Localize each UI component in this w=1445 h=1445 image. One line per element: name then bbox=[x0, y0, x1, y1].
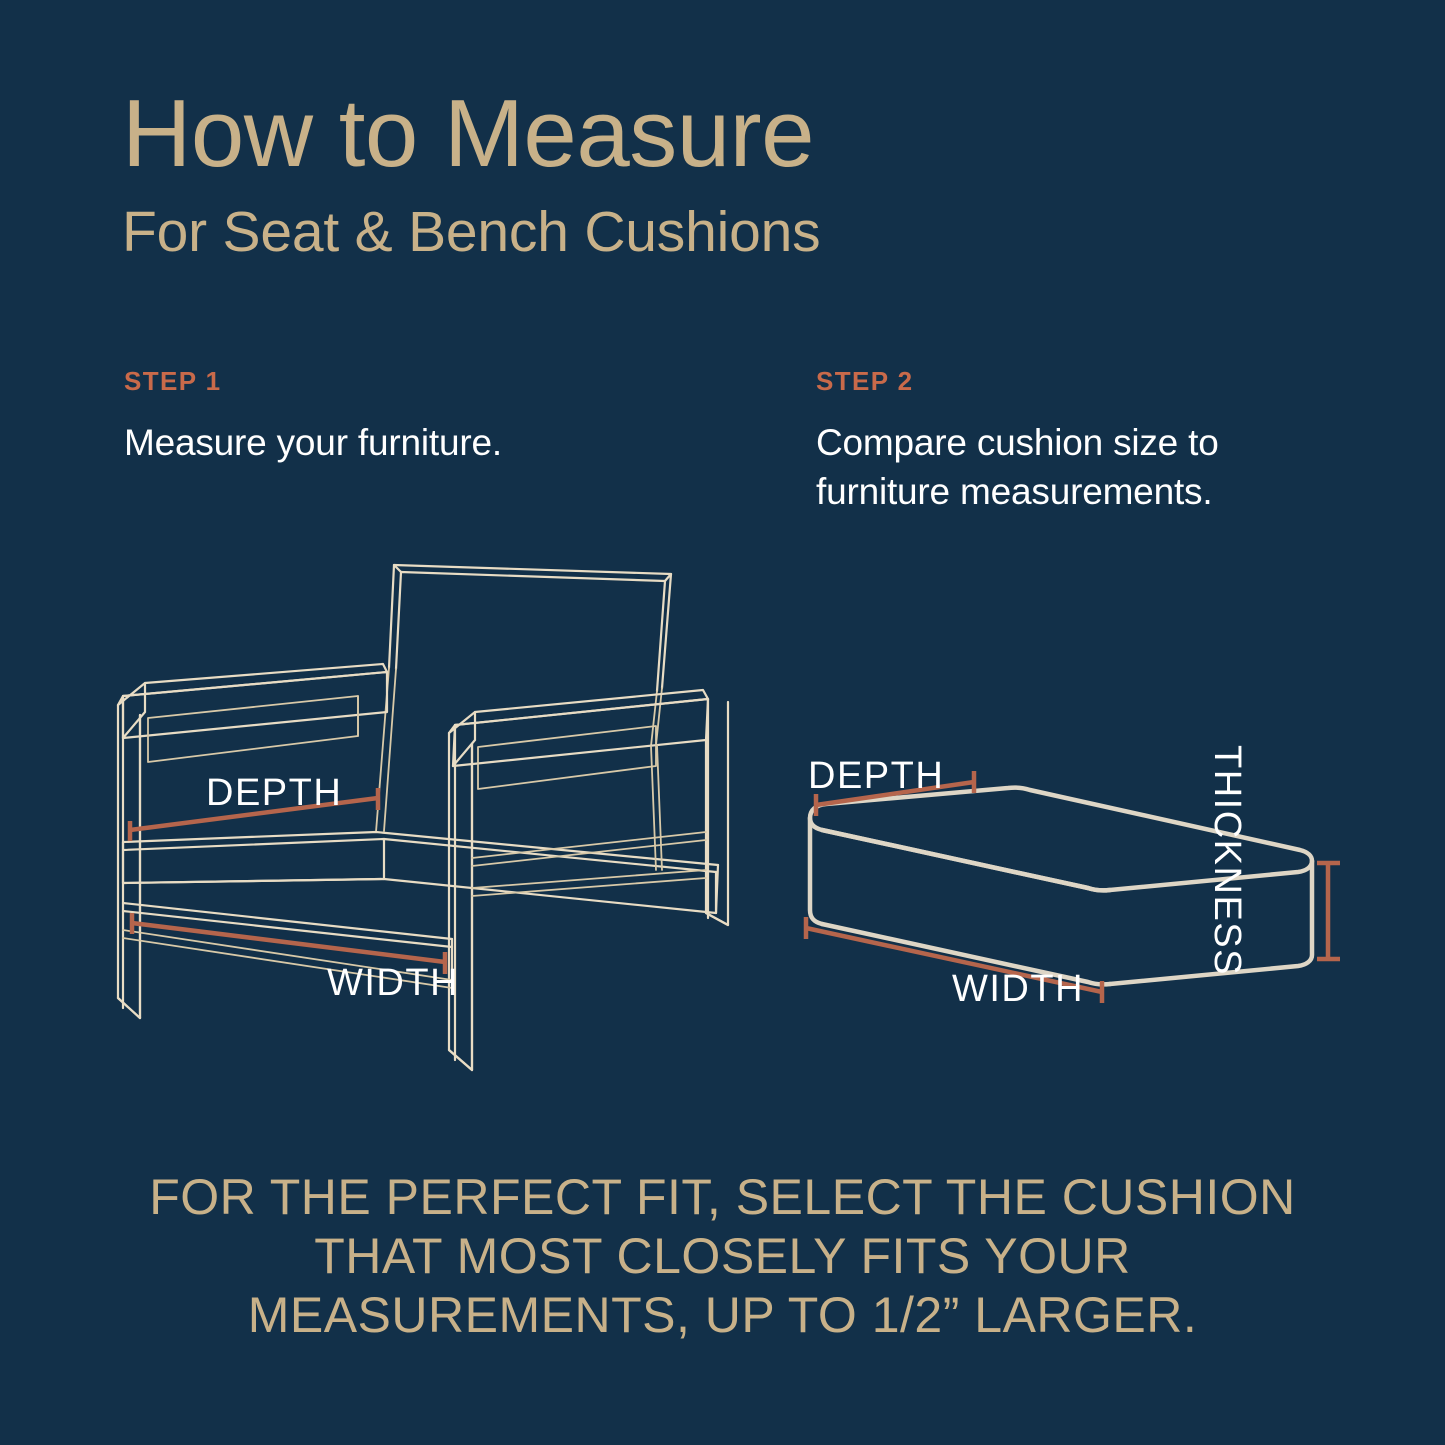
step-2-text: Compare cushion size to furniture measur… bbox=[816, 419, 1346, 517]
footer-line-3: MEASUREMENTS, UP TO 1/2” LARGER. bbox=[0, 1286, 1445, 1345]
chair-backrest bbox=[389, 565, 671, 691]
cushion-thickness-dimension bbox=[1317, 863, 1340, 959]
step-1-text: Measure your furniture. bbox=[124, 419, 684, 468]
chair-diagram bbox=[100, 540, 740, 1100]
page-subtitle: For Seat & Bench Cushions bbox=[122, 204, 1222, 261]
chair-width-label: WIDTH bbox=[327, 962, 459, 1005]
cushion-width-label: WIDTH bbox=[952, 968, 1084, 1011]
chair-right-arm bbox=[449, 690, 708, 766]
footer-callout: FOR THE PERFECT FIT, SELECT THE CUSHION … bbox=[0, 1168, 1445, 1345]
step-1-kicker: STEP 1 bbox=[124, 366, 684, 397]
chair-seat-frame bbox=[123, 832, 718, 913]
footer-line-1: FOR THE PERFECT FIT, SELECT THE CUSHION bbox=[0, 1168, 1445, 1227]
chair-right-front-leg bbox=[449, 725, 472, 1070]
step-1-block: STEP 1 Measure your furniture. bbox=[124, 366, 684, 468]
chair-right-arm-rail bbox=[478, 726, 656, 789]
cushion-depth-label: DEPTH bbox=[808, 755, 944, 798]
chair-depth-label: DEPTH bbox=[206, 772, 342, 815]
infographic-page: How to Measure For Seat & Bench Cushions… bbox=[0, 0, 1445, 1445]
page-title: How to Measure bbox=[122, 86, 1222, 182]
step-2-block: STEP 2 Compare cushion size to furniture… bbox=[816, 366, 1346, 517]
chair-left-arm bbox=[118, 664, 387, 738]
cushion-front-crease bbox=[822, 830, 1110, 890]
header: How to Measure For Seat & Bench Cushions bbox=[122, 86, 1222, 261]
chair-right-stretcher bbox=[472, 832, 706, 896]
step-2-kicker: STEP 2 bbox=[816, 366, 1346, 397]
footer-line-2: THAT MOST CLOSELY FITS YOUR bbox=[0, 1227, 1445, 1286]
cushion-thickness-label: THICKNESS bbox=[1205, 745, 1248, 976]
chair-left-front-leg bbox=[118, 696, 140, 1018]
chair-left-arm-rail bbox=[148, 696, 358, 762]
